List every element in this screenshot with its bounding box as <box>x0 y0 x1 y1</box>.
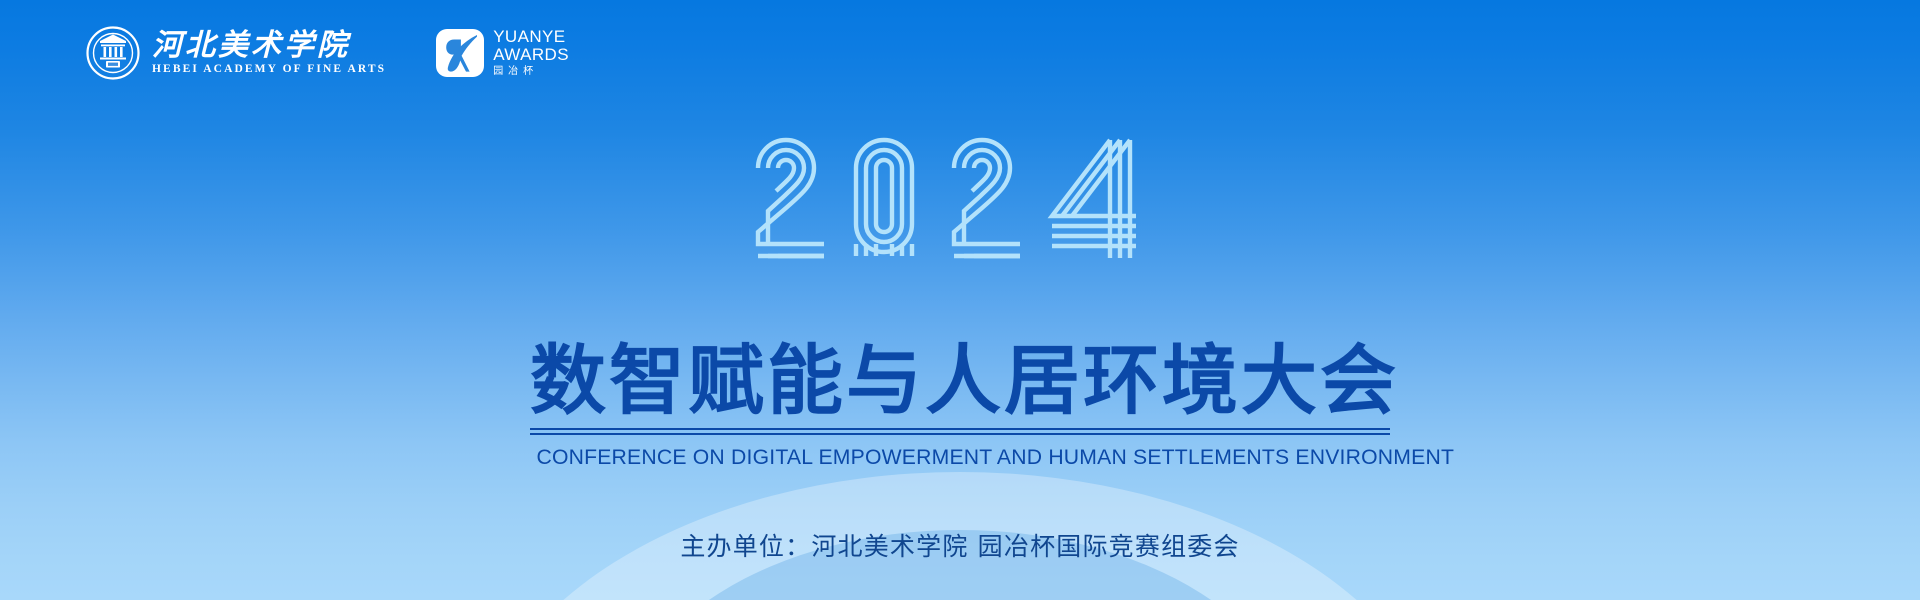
divider-line-bottom <box>530 433 1390 435</box>
hebei-name-cn: 河北美术学院 <box>152 30 386 62</box>
yuanye-line2: AWARDS <box>493 46 569 63</box>
hebei-name-en: HEBEI ACADEMY OF FINE ARTS <box>152 63 386 76</box>
yuanye-name-cn: 园冶杯 <box>493 66 569 78</box>
main-title: 数智赋能与人居环境大会 <box>530 340 1390 422</box>
conference-banner: 河北美术学院 HEBEI ACADEMY OF FINE ARTS YUANYE… <box>0 0 1920 600</box>
year-2024-graphic <box>750 128 1170 270</box>
yuanye-logo-text: YUANYE AWARDS 园冶杯 <box>493 28 569 78</box>
yuanye-leaf-mark-icon <box>436 29 484 77</box>
yuanye-awards-logo: YUANYE AWARDS 园冶杯 <box>436 28 569 78</box>
hebei-academy-logo: 河北美术学院 HEBEI ACADEMY OF FINE ARTS <box>86 26 386 80</box>
title-divider <box>530 428 1390 435</box>
logo-row: 河北美术学院 HEBEI ACADEMY OF FINE ARTS YUANYE… <box>86 26 569 80</box>
hebei-logo-text: 河北美术学院 HEBEI ACADEMY OF FINE ARTS <box>152 30 386 76</box>
organizer-line: 主办单位：河北美术学院 园冶杯国际竞赛组委会 <box>680 530 1239 564</box>
sub-title: CONFERENCE ON DIGITAL EMPOWERMENT AND HU… <box>536 444 1383 470</box>
divider-line-top <box>530 428 1390 430</box>
title-block: 数智赋能与人居环境大会 CONFERENCE ON DIGITAL EMPOWE… <box>530 340 1390 470</box>
university-seal-icon <box>86 26 140 80</box>
yuanye-line1: YUANYE <box>493 28 569 45</box>
